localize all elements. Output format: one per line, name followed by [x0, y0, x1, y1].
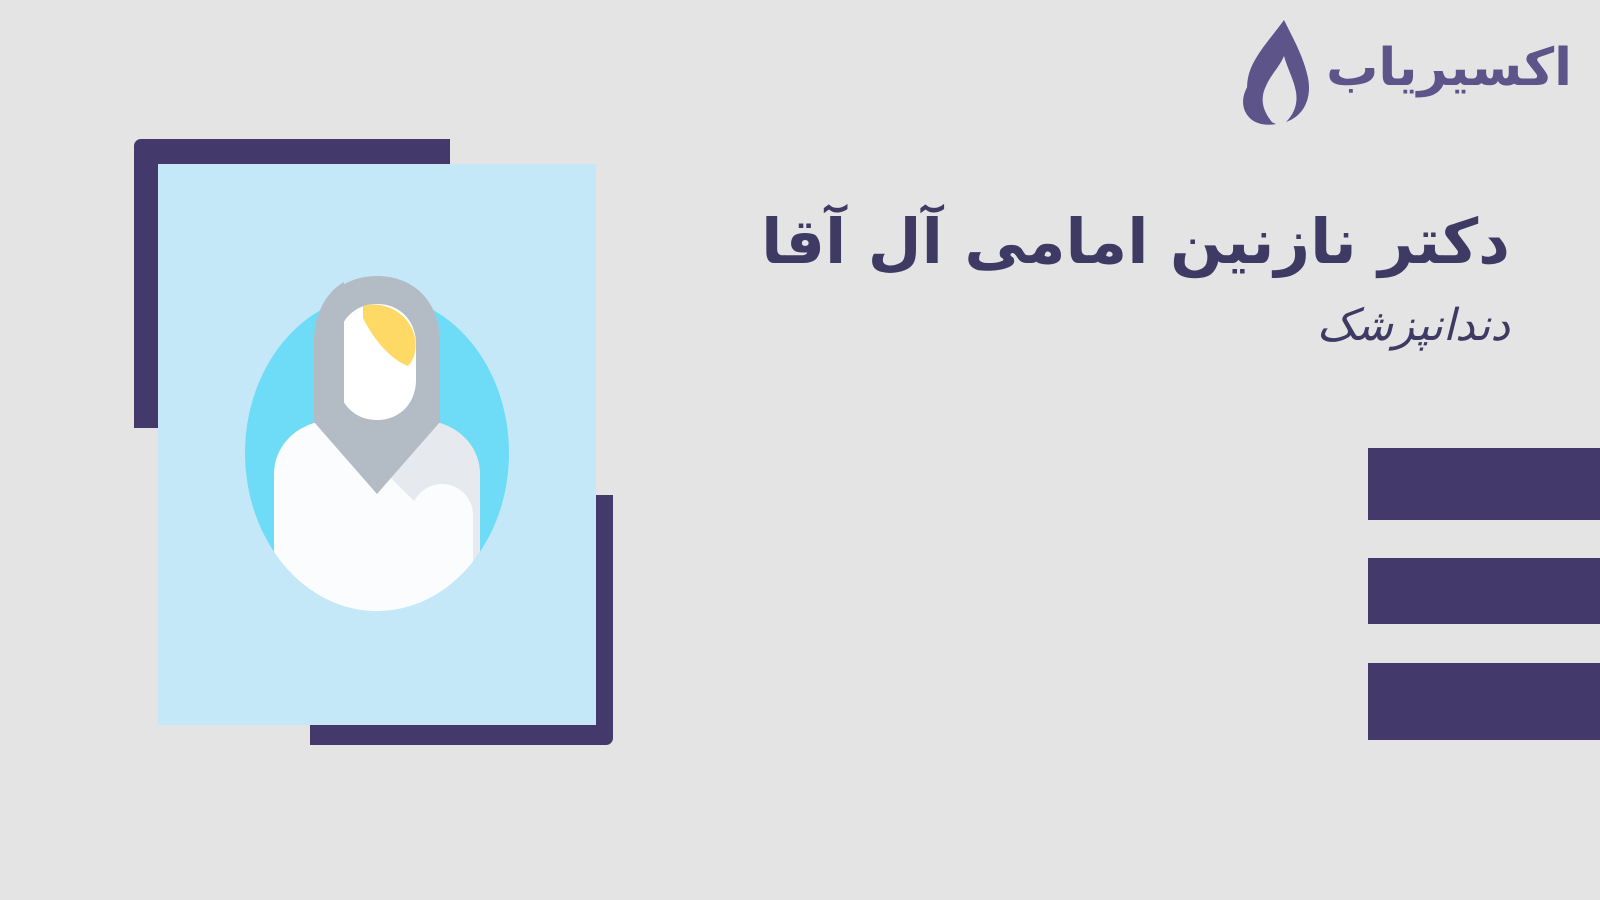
decor-bar-3 — [1368, 663, 1600, 740]
brand-name-label: اکسیریاب — [1326, 42, 1572, 104]
profile-headline: دکتر نازنین امامی آل آقا دندانپزشک — [690, 205, 1510, 348]
flame-drop-icon — [1238, 18, 1312, 128]
doctor-name: دکتر نازنین امامی آل آقا — [690, 205, 1510, 278]
brand-logo[interactable]: اکسیریاب — [1238, 18, 1572, 128]
profile-card-stage: اکسیریاب دکتر نازنین امامی آل آقا دندانپ… — [0, 0, 1600, 900]
female-doctor-avatar-icon — [158, 164, 596, 725]
avatar-photo-card — [158, 164, 596, 725]
decor-bar-2 — [1368, 558, 1600, 624]
decor-bar-1 — [1368, 448, 1600, 520]
doctor-specialty: دندانپزشک — [690, 304, 1510, 348]
avatar-composition — [130, 130, 630, 750]
